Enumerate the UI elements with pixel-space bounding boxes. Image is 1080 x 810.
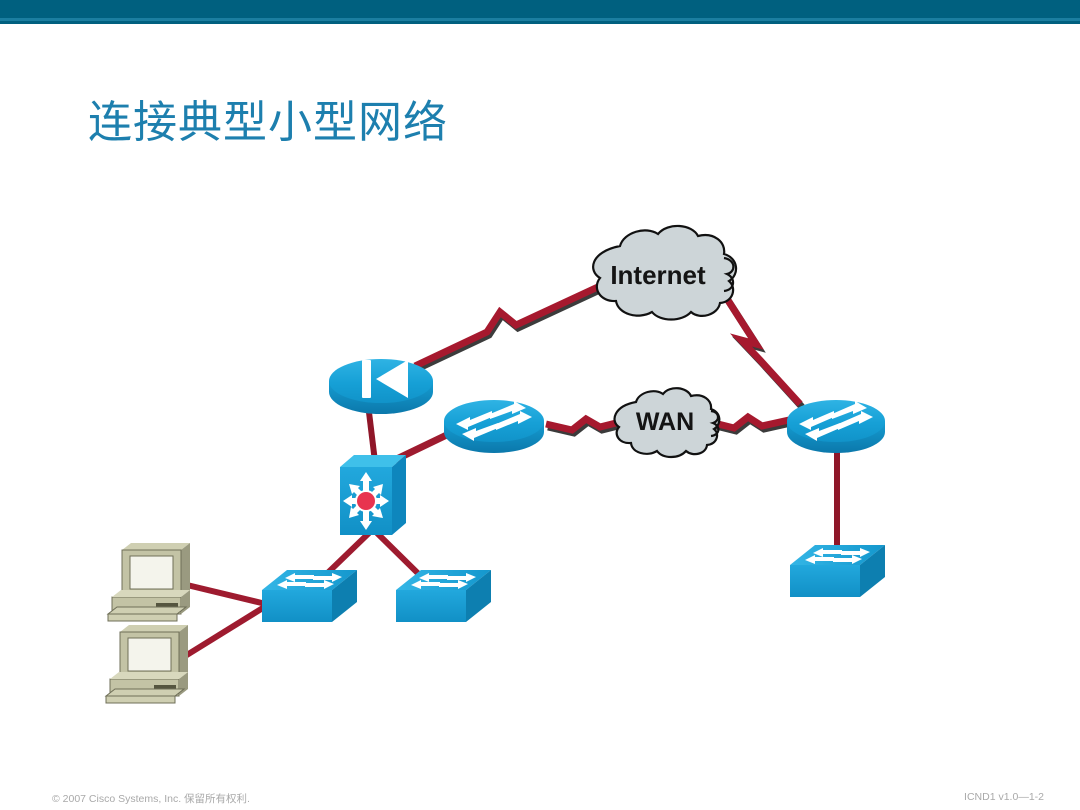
pc-bottom-chassis-top [110,672,188,679]
remote-router-top [787,400,885,442]
internet-cloud-label: Internet [610,260,706,290]
pc-top-chassis-top [112,590,190,597]
node-remote-router[interactable] [787,400,885,453]
pc-bottom-screen [128,638,171,671]
node-internet-cloud[interactable]: Internet [593,226,736,320]
pc-bottom-monitor-side [179,625,188,679]
switch-center-front-face [396,590,466,622]
pc-top-monitor-top [122,543,190,550]
pc-top-drive-slot [156,603,178,607]
pc-top-keyboard [108,607,186,621]
link-internet-remote-router [722,291,800,404]
pc-bottom-keyboard [106,689,184,703]
node-branch-router[interactable] [444,400,544,453]
pc-top-monitor-side [181,543,190,597]
link-edge-router-internet [415,286,600,366]
multilayer-switch-side-face [392,455,406,535]
multilayer-switch-center-dot [357,492,375,510]
node-pc-top[interactable] [108,543,190,621]
node-edge-router[interactable] [329,359,433,414]
network-topology-diagram: Internet WAN [0,0,1080,810]
branch-router-top [444,400,544,442]
link-switch-left-pc-bottom [182,606,266,658]
slide-canvas: 连接典型小型网络 [0,0,1080,810]
node-wan-cloud[interactable]: WAN [615,388,720,457]
node-switch-remote[interactable] [790,545,885,597]
node-switch-center[interactable] [396,570,491,622]
pc-bottom-monitor-top [120,625,188,632]
node-switch-left[interactable] [262,570,357,622]
node-multilayer-switch[interactable] [340,455,406,535]
switch-remote-front-face [790,565,860,597]
wan-cloud-label: WAN [636,408,694,436]
node-pc-bottom[interactable] [106,625,188,703]
footer-reference: ICND1 v1.0—1-2 [964,791,1044,803]
link-switch-left-pc-top [187,585,266,604]
switch-left-front-face [262,590,332,622]
pc-bottom-drive-slot [154,685,176,689]
footer-copyright: © 2007 Cisco Systems, Inc. 保留所有权利. [52,791,250,806]
